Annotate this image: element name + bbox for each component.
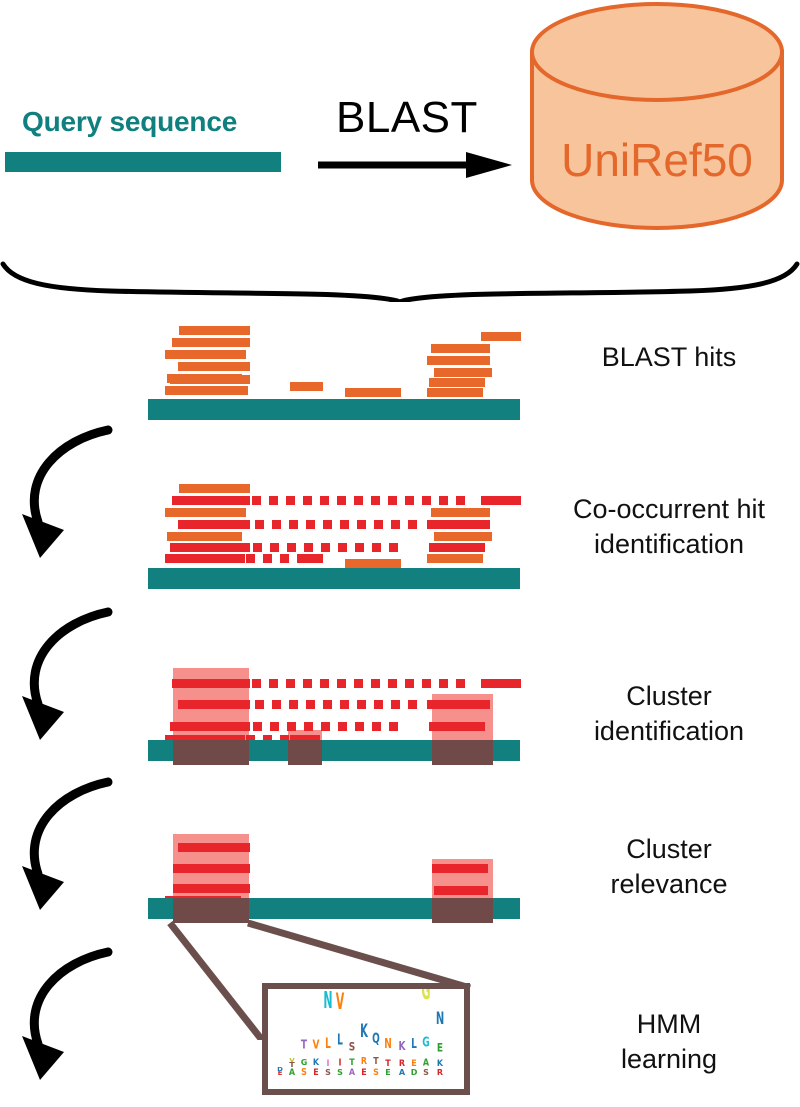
cluster-query-overlap bbox=[432, 740, 493, 765]
cooccurrent-hit-bar bbox=[429, 722, 485, 731]
step-label-co-occurrent: Co-occurrent hit identification bbox=[540, 492, 798, 562]
sequence-logo-icon: E D A T V S G T E K V S bbox=[268, 989, 464, 1089]
svg-text:R: R bbox=[361, 1057, 367, 1068]
step-label-line1: HMM bbox=[540, 1007, 798, 1042]
curly-brace-icon bbox=[0, 258, 800, 302]
cooccurrent-hit-bar bbox=[170, 722, 250, 731]
svg-text:D: D bbox=[277, 1067, 283, 1073]
step-label-cluster-relevance: Cluster relevance bbox=[540, 832, 798, 902]
svg-text:L: L bbox=[325, 1035, 331, 1052]
svg-text:E: E bbox=[437, 1042, 443, 1055]
blast-hit-bar bbox=[178, 362, 250, 371]
non-cooccurrent-hit-bar bbox=[167, 532, 242, 541]
step-label-hmm-learning: HMM learning bbox=[540, 1007, 798, 1077]
cooccurrent-hit-bar bbox=[178, 843, 250, 852]
cooccurrent-hit-bar bbox=[434, 886, 488, 895]
query-sequence-label: Query sequence bbox=[22, 106, 237, 138]
blast-hit-bar bbox=[429, 378, 485, 387]
svg-text:G: G bbox=[421, 989, 430, 1006]
svg-text:N: N bbox=[384, 1035, 392, 1051]
svg-text:S: S bbox=[349, 1040, 355, 1053]
blast-hit-bar bbox=[431, 344, 490, 353]
blast-hit-bar bbox=[165, 350, 246, 359]
svg-text:G: G bbox=[422, 1034, 429, 1050]
query-bar-blast-hits bbox=[148, 399, 520, 420]
query-bar-co-occurrent bbox=[148, 568, 520, 589]
cooccurrent-hit-bar bbox=[481, 679, 521, 688]
step-label-blast-hits: BLAST hits bbox=[540, 340, 798, 375]
svg-text:T: T bbox=[385, 1058, 391, 1068]
svg-text:V: V bbox=[313, 1037, 320, 1052]
step-label-line2: learning bbox=[540, 1042, 798, 1077]
cooccurrent-hit-bar bbox=[178, 700, 250, 709]
cooccurrence-connector bbox=[253, 722, 423, 731]
flow-arrow-icon bbox=[8, 418, 128, 568]
blast-hit-bar bbox=[170, 375, 250, 384]
non-cooccurrent-hit-bar bbox=[345, 559, 401, 568]
query-sequence-bar bbox=[5, 152, 281, 172]
step-label-line1: Co-occurrent hit bbox=[540, 492, 798, 527]
blast-label: BLAST bbox=[336, 93, 478, 143]
database-label: UniRef50 bbox=[528, 133, 786, 187]
blast-hit-bar bbox=[165, 386, 248, 395]
cooccurrent-hit-bar bbox=[172, 679, 250, 688]
svg-text:K: K bbox=[360, 1019, 369, 1042]
svg-text:N: N bbox=[323, 989, 332, 1014]
cooccurrent-hit-bar bbox=[298, 554, 323, 563]
step-label-line1: Cluster bbox=[540, 679, 798, 714]
flow-arrow-icon bbox=[8, 600, 128, 750]
cooccurrent-hit-bar bbox=[481, 496, 521, 505]
svg-text:A: A bbox=[423, 1058, 429, 1069]
svg-text:S: S bbox=[325, 1068, 331, 1077]
cooccurrent-hit-bar bbox=[432, 864, 488, 873]
svg-text:R: R bbox=[437, 1068, 443, 1077]
cooccurrent-hit-bar bbox=[178, 520, 250, 529]
blast-hit-bar bbox=[434, 368, 492, 377]
svg-text:E: E bbox=[361, 1067, 367, 1077]
flow-arrow-icon bbox=[8, 770, 128, 920]
svg-text:N: N bbox=[436, 1009, 444, 1029]
blast-hit-bar bbox=[427, 356, 490, 365]
database-cylinder-icon bbox=[528, 2, 786, 230]
svg-text:S: S bbox=[423, 1068, 429, 1077]
blast-hit-bar bbox=[290, 382, 323, 391]
cooccurrent-hit-bar bbox=[173, 884, 250, 893]
non-cooccurrent-hit-bar bbox=[179, 484, 250, 493]
cooccurrent-hit-bar bbox=[427, 520, 490, 529]
step-label-line1: Cluster bbox=[540, 832, 798, 867]
step-label-cluster-identification: Cluster identification bbox=[540, 679, 798, 749]
svg-text:A: A bbox=[399, 1068, 406, 1077]
step-label-line2: relevance bbox=[540, 867, 798, 902]
cooccurrence-connector bbox=[255, 520, 430, 529]
cluster-query-overlap bbox=[173, 740, 249, 765]
cooccurrence-connector bbox=[246, 554, 306, 563]
blast-hit-bar bbox=[179, 326, 250, 335]
svg-text:L: L bbox=[411, 1035, 417, 1051]
flow-arrow-icon bbox=[8, 940, 128, 1090]
svg-text:T: T bbox=[349, 1057, 355, 1067]
cooccurrent-hit-bar bbox=[170, 543, 250, 552]
svg-text:I: I bbox=[339, 1058, 342, 1069]
svg-text:K: K bbox=[313, 1057, 320, 1067]
svg-text:S: S bbox=[373, 1067, 379, 1077]
svg-text:T: T bbox=[301, 1037, 308, 1052]
non-cooccurrent-hit-bar bbox=[434, 532, 492, 541]
svg-text:A: A bbox=[349, 1067, 356, 1077]
svg-text:E: E bbox=[411, 1058, 417, 1068]
non-cooccurrent-hit-bar bbox=[165, 508, 246, 517]
svg-text:G: G bbox=[301, 1058, 308, 1067]
svg-text:S: S bbox=[337, 1068, 343, 1077]
blast-hit-bar bbox=[345, 388, 401, 397]
blast-hit-bar bbox=[172, 338, 250, 347]
svg-text:D: D bbox=[411, 1068, 418, 1077]
step-label-line2: identification bbox=[540, 714, 798, 749]
cooccurrent-hit-bar bbox=[165, 554, 245, 563]
figure-canvas: Query sequence BLAST UniRef50 BLAST hits bbox=[0, 0, 800, 1107]
svg-text:R: R bbox=[399, 1058, 406, 1068]
cooccurrent-hit-bar bbox=[427, 700, 490, 709]
non-cooccurrent-hit-bar bbox=[431, 508, 490, 517]
cooccurrent-hit-bar bbox=[173, 864, 250, 873]
cooccurrence-connector bbox=[252, 496, 477, 505]
cluster-query-overlap bbox=[288, 740, 322, 765]
blast-hit-bar bbox=[481, 332, 521, 341]
cooccurrence-connector bbox=[252, 679, 477, 688]
svg-text:T: T bbox=[373, 1057, 378, 1068]
step-label-line2: identification bbox=[540, 527, 798, 562]
svg-text:L: L bbox=[337, 1030, 343, 1048]
cooccurrent-hit-bar bbox=[172, 496, 250, 505]
blast-hit-bar bbox=[427, 388, 483, 397]
svg-text:K: K bbox=[437, 1058, 444, 1068]
svg-text:I: I bbox=[327, 1058, 330, 1068]
cooccurrence-connector bbox=[253, 543, 423, 552]
cooccurrent-hit-bar bbox=[429, 543, 485, 552]
svg-text:E: E bbox=[313, 1067, 319, 1077]
svg-text:Q: Q bbox=[372, 1030, 380, 1047]
svg-text:V: V bbox=[289, 1058, 295, 1064]
svg-text:V: V bbox=[336, 990, 345, 1015]
svg-text:S: S bbox=[301, 1067, 307, 1078]
svg-text:K: K bbox=[399, 1038, 406, 1053]
non-cooccurrent-hit-bar bbox=[427, 554, 483, 563]
svg-text:E: E bbox=[385, 1068, 390, 1077]
right-arrow-icon bbox=[316, 150, 516, 180]
cooccurrence-connector bbox=[255, 700, 430, 709]
